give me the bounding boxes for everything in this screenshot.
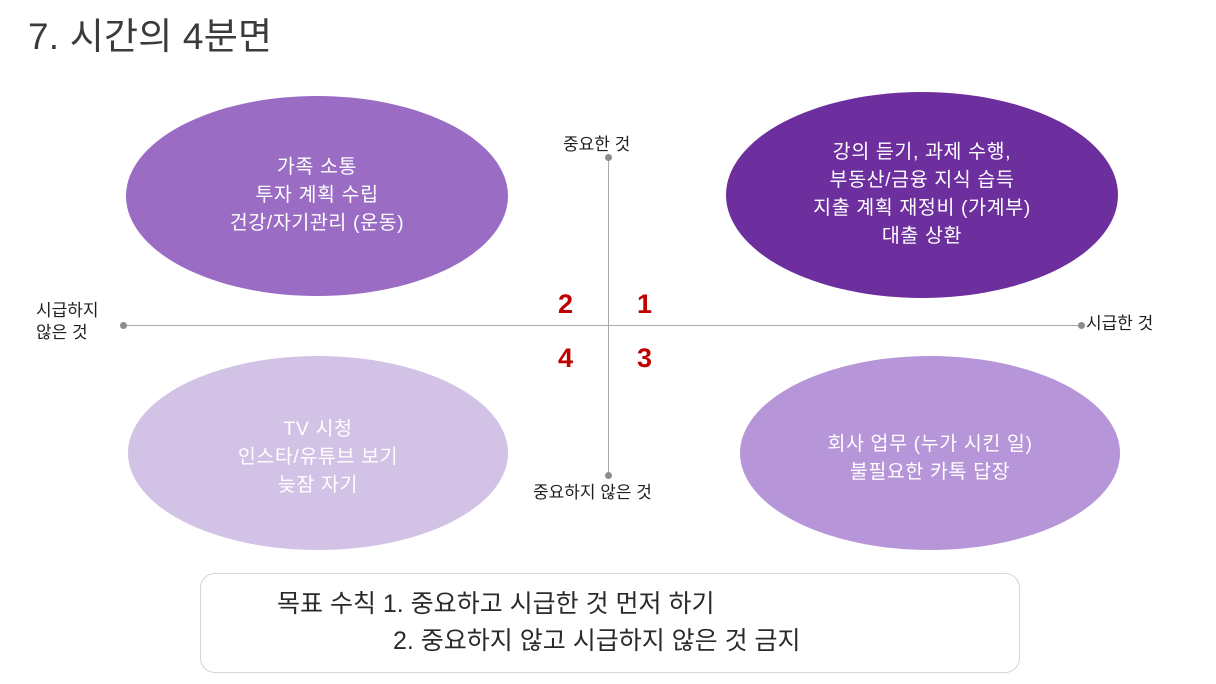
quadrant-number-1: 1 — [637, 291, 652, 318]
quadrant-2-text: 가족 소통 투자 계획 수립 건강/자기관리 (운동) — [222, 153, 413, 237]
axis-endpoint-dot-left — [120, 322, 127, 329]
vertical-axis-line — [608, 157, 609, 476]
slide-canvas: 7. 시간의 4분면 가족 소통 투자 계획 수립 건강/자기관리 (운동) 강… — [0, 0, 1216, 684]
quadrant-1-text: 강의 듣기, 과제 수행, 부동산/금융 지식 습득 지출 계획 재정비 (가계… — [805, 138, 1039, 250]
quadrant-number-3: 3 — [637, 345, 652, 372]
axis-label-important: 중요한 것 — [563, 134, 630, 156]
quadrant-ellipse-2: 가족 소통 투자 계획 수립 건강/자기관리 (운동) — [126, 96, 508, 296]
quadrant-number-4: 4 — [558, 345, 573, 372]
quadrant-4-text: TV 시청 인스타/유튜브 보기 늦잠 자기 — [230, 415, 406, 499]
quadrant-number-2: 2 — [558, 291, 573, 318]
goal-rule-line-2: 2. 중요하지 않고 시급하지 않은 것 금지 — [243, 623, 993, 660]
goal-rule-line-1: 목표 수칙 1. 중요하고 시급한 것 먼저 하기 — [243, 586, 993, 623]
axis-label-not-important: 중요하지 않은 것 — [533, 482, 652, 504]
horizontal-axis-line — [124, 325, 1082, 326]
quadrant-ellipse-4: TV 시청 인스타/유튜브 보기 늦잠 자기 — [128, 356, 508, 550]
quadrant-ellipse-1: 강의 듣기, 과제 수행, 부동산/금융 지식 습득 지출 계획 재정비 (가계… — [726, 92, 1118, 298]
axis-endpoint-dot-right — [1078, 322, 1085, 329]
axis-endpoint-dot-bottom — [605, 472, 612, 479]
quadrant-3-text: 회사 업무 (누가 시킨 일) 불필요한 카톡 답장 — [819, 430, 1040, 486]
axis-label-not-urgent: 시급하지 않은 것 — [36, 300, 99, 344]
goal-rules-box: 목표 수칙 1. 중요하고 시급한 것 먼저 하기 2. 중요하지 않고 시급하… — [200, 573, 1020, 673]
quadrant-ellipse-3: 회사 업무 (누가 시킨 일) 불필요한 카톡 답장 — [740, 356, 1120, 550]
axis-label-urgent: 시급한 것 — [1086, 313, 1153, 335]
page-title: 7. 시간의 4분면 — [28, 14, 272, 60]
